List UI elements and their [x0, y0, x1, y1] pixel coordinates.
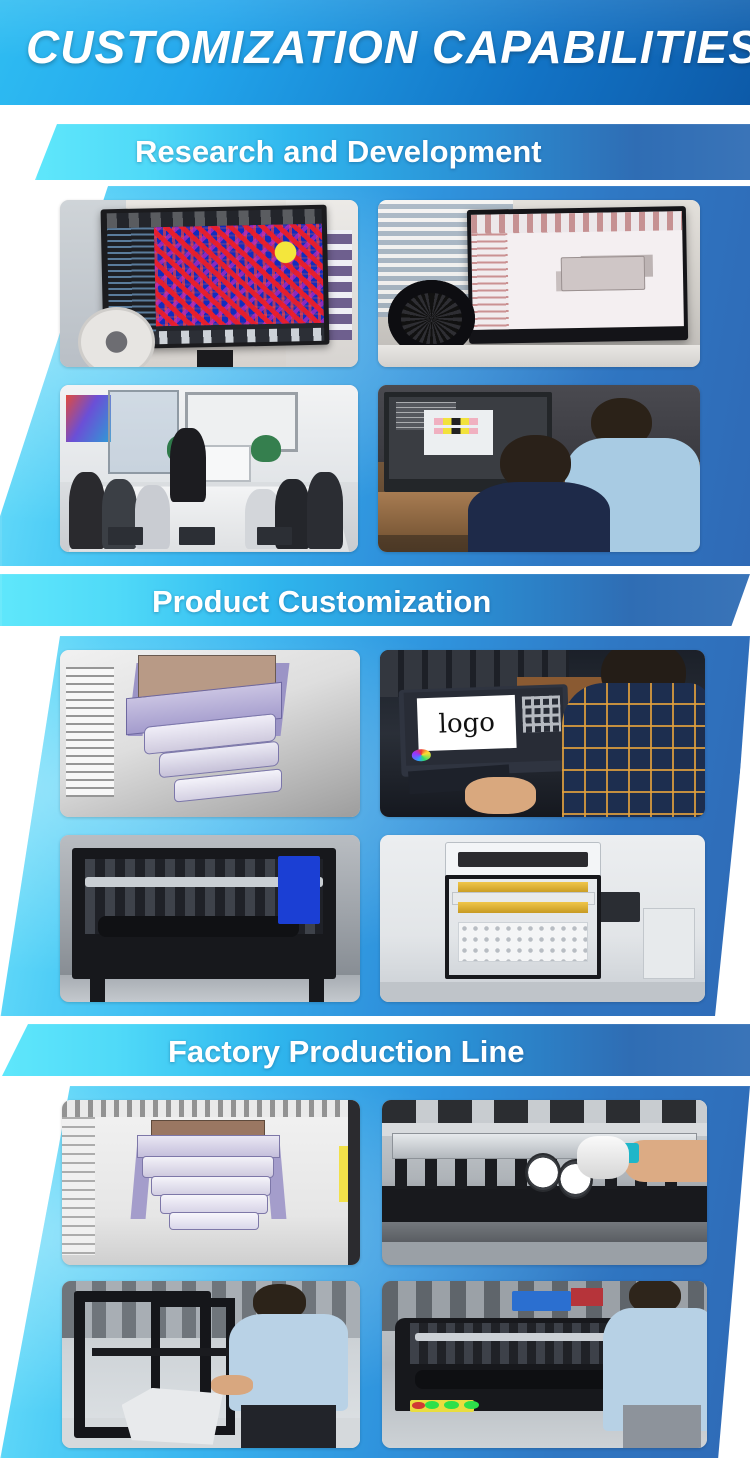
photo-pcb-cad-monitor[interactable] — [60, 200, 358, 367]
scene — [60, 650, 360, 817]
photo-frame-assembly-worker[interactable] — [62, 1281, 360, 1448]
scene — [378, 200, 700, 367]
section-banner-research-and-development: Research and Development — [35, 124, 750, 180]
scene — [380, 835, 705, 1002]
page-bottom-divider — [0, 1458, 750, 1481]
laptop-screen-logo-text: logo — [416, 695, 516, 751]
photo-mechanical-cad-monitor[interactable] — [378, 200, 700, 367]
scene — [382, 1281, 707, 1448]
section-title-factory-production-line: Factory Production Line — [0, 1024, 750, 1080]
photo-3d-assembly-model[interactable] — [60, 650, 360, 817]
header-divider — [0, 106, 750, 126]
photo-printer-mechanism-frame[interactable] — [60, 835, 360, 1002]
photo-printer-assembly-worker[interactable] — [382, 1281, 707, 1448]
section-banner-product-customization: Product Customization — [0, 574, 750, 630]
scene — [382, 1100, 707, 1265]
scene — [62, 1281, 360, 1448]
customization-capabilities-page: CUSTOMIZATION CAPABILITIES Research and … — [0, 0, 750, 1481]
photo-engineers-reviewing-screen[interactable] — [378, 385, 700, 552]
photo-press-brake-inspection[interactable] — [382, 1100, 707, 1265]
scene: logo — [380, 650, 705, 817]
photo-cad-drawing-screen[interactable] — [62, 1100, 360, 1265]
photo-grid-research-and-development — [60, 200, 700, 552]
page-header: CUSTOMIZATION CAPABILITIES — [0, 0, 750, 105]
section-title-product-customization: Product Customization — [0, 574, 750, 630]
scene — [60, 385, 358, 552]
page-title: CUSTOMIZATION CAPABILITIES — [26, 20, 750, 74]
scene — [378, 385, 700, 552]
scene — [60, 835, 360, 1002]
section-title-research-and-development: Research and Development — [35, 124, 750, 180]
photo-dtf-printer-unit[interactable] — [380, 835, 705, 1002]
photo-grid-factory-production-line — [62, 1100, 707, 1448]
photo-operator-laptop-logo[interactable]: logo — [380, 650, 705, 817]
scene — [60, 200, 358, 367]
scene — [62, 1100, 360, 1265]
section-banner-factory-production-line: Factory Production Line — [0, 1024, 750, 1080]
photo-team-meeting-room[interactable] — [60, 385, 358, 552]
photo-grid-product-customization: logo — [60, 650, 705, 1002]
